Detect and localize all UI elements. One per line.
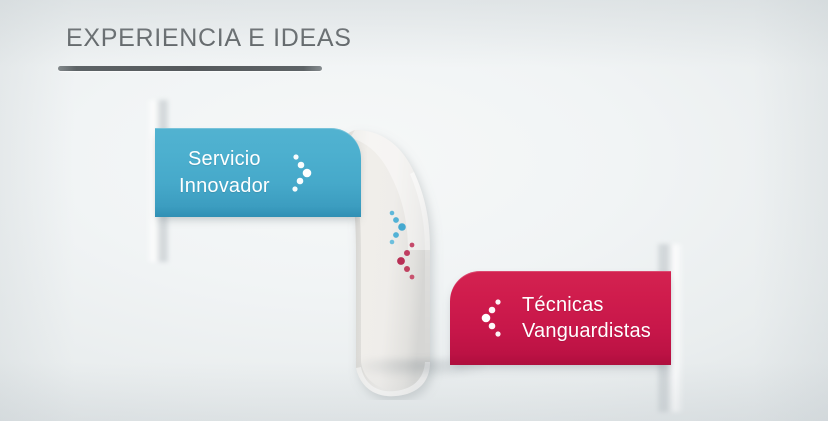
banner-tecnicas-vanguardistas[interactable]: Técnicas Vanguardistas [450, 271, 671, 365]
banner-label-servicio-innovador: Servicio Innovador [179, 146, 270, 199]
slide-canvas: EXPERIENCIA E IDEAS [0, 0, 828, 421]
page-title: EXPERIENCIA E IDEAS [66, 24, 352, 53]
title-underline-rule [58, 66, 322, 71]
chevron-dots-icon-blue-banner [290, 151, 320, 195]
chevron-dots-icon-pink-banner [478, 296, 506, 340]
banner-servicio-innovador[interactable]: Servicio Innovador [155, 128, 361, 217]
banner-label-tecnicas-vanguardistas: Técnicas Vanguardistas [522, 292, 651, 345]
